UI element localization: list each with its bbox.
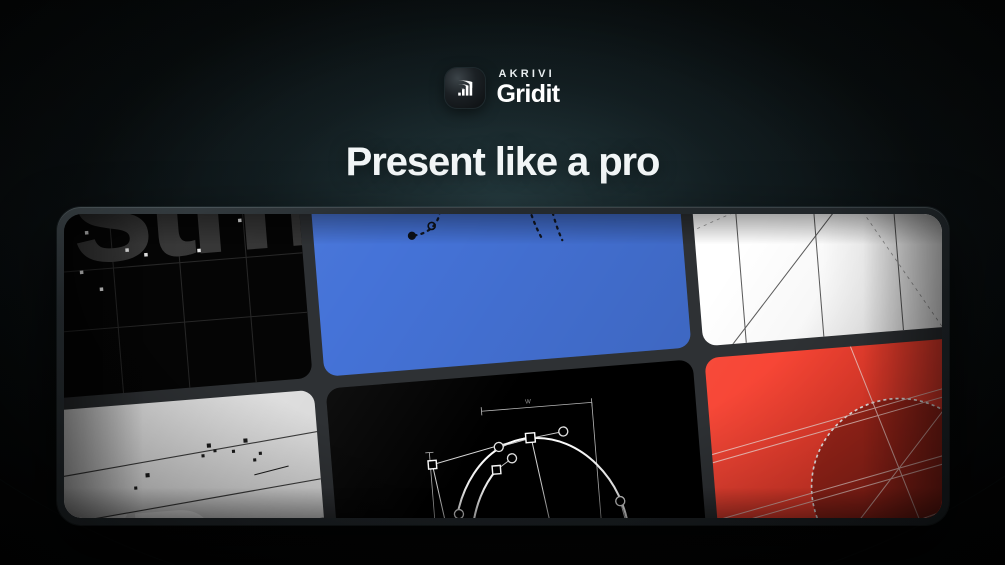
- dotted-paths-icon: [300, 214, 691, 377]
- list-item[interactable]: W H: [325, 359, 716, 518]
- list-item[interactable]: [680, 214, 942, 346]
- bezier-editor-icon: W H: [325, 359, 716, 518]
- promo-screenshot: AKRIVI Gridit Present like a pro Systm: [0, 0, 1005, 565]
- akrivi-signal-bars-icon: [445, 68, 485, 108]
- list-item[interactable]: Systm: [64, 214, 312, 407]
- device-frame: Systm: [57, 207, 949, 525]
- geometric-shapes-icon: [705, 329, 942, 518]
- page-title: Present like a pro: [0, 140, 1005, 185]
- brand-wordmark: Gridit: [496, 81, 559, 107]
- list-item[interactable]: EXP: [64, 390, 337, 518]
- device-screen: Systm: [64, 214, 942, 518]
- list-item[interactable]: [300, 214, 691, 377]
- brand-text: AKRIVI Gridit: [496, 68, 559, 107]
- list-item[interactable]: [705, 329, 942, 518]
- vector-anchor-points-icon: [64, 214, 312, 407]
- brand-kicker: AKRIVI: [498, 68, 559, 80]
- construction-lines-icon: [680, 214, 942, 346]
- svg-text:W: W: [525, 398, 532, 405]
- typography-guides-icon: [64, 390, 337, 518]
- brand-lockup: AKRIVI Gridit: [0, 68, 1005, 108]
- template-gallery-carousel[interactable]: Systm: [64, 214, 942, 518]
